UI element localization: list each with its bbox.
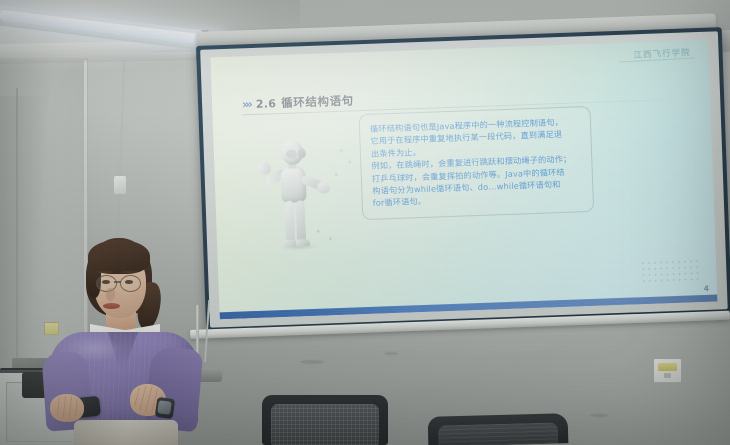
classroom-photo: 江西飞行学院 »› 2.6 循环结构语句 xyxy=(0,0,730,445)
mascot-right-foot xyxy=(296,239,310,246)
mascot-right-hand xyxy=(316,180,332,195)
wall-outlet-label xyxy=(658,363,677,371)
office-chair xyxy=(262,395,388,445)
decorative-dot-pattern xyxy=(640,258,701,286)
wall-scuff xyxy=(590,414,608,417)
glasses-lens-right xyxy=(120,275,141,292)
presenter-pants-shading xyxy=(74,420,178,445)
chair-mesh-back xyxy=(271,404,379,445)
wall-outlet-socket xyxy=(664,373,671,378)
mascot-left-hand xyxy=(256,160,272,177)
mascot-right-leg xyxy=(296,200,307,244)
wall-scuff xyxy=(300,360,324,364)
slide-title-text: 循环结构语句 xyxy=(281,92,354,111)
mascot-figure xyxy=(255,137,331,248)
mascot-left-leg xyxy=(285,201,296,245)
presenter-hair-front xyxy=(88,240,150,274)
glasses-bridge xyxy=(114,281,121,283)
projection-board: 江西飞行学院 »› 2.6 循环结构语句 xyxy=(196,27,730,332)
mascot-ear xyxy=(298,148,306,158)
presenter-left-fingers xyxy=(53,396,81,418)
slide-title-number: 2.6 xyxy=(256,97,277,111)
wall-outlet xyxy=(653,358,682,383)
sparkle-dot xyxy=(329,237,332,240)
chevron-icon: »› xyxy=(242,97,251,111)
presenter-mouth xyxy=(103,303,120,309)
slide-page-number: 4 xyxy=(704,284,710,293)
sparkle-dot xyxy=(335,173,338,176)
projected-slide: 江西飞行学院 »› 2.6 循环结构语句 xyxy=(210,40,717,320)
slide-text-box: 循环结构语句也是Java程序中的一种流程控制语句， 它用于在程序中重复地执行某一… xyxy=(359,106,595,220)
office-chair-foreground xyxy=(428,413,569,445)
sparkle-dot xyxy=(340,149,343,152)
slide-title: »› 2.6 循环结构语句 xyxy=(242,92,354,112)
chair-mesh-back xyxy=(438,422,559,445)
sparkle-dot xyxy=(317,230,320,233)
mascot-left-foot xyxy=(283,240,297,247)
mascot-torso xyxy=(280,166,306,203)
wristwatch-face xyxy=(157,400,172,415)
cable-clip xyxy=(114,176,126,194)
presenter-nose xyxy=(106,288,115,301)
wall-scuff xyxy=(384,352,398,355)
sparkle-dot xyxy=(348,161,351,164)
presenter xyxy=(34,236,198,445)
